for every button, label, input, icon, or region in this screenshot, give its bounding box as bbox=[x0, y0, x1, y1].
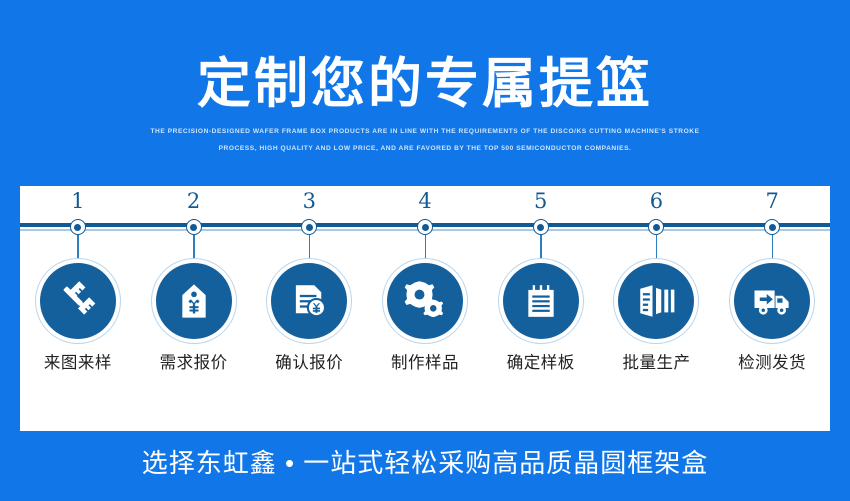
step-label: 来图来样 bbox=[20, 352, 136, 374]
step-icon-ring bbox=[729, 258, 815, 344]
timeline-stem bbox=[77, 235, 79, 260]
process-step-2[interactable]: 2 bbox=[136, 186, 252, 431]
timeline-node bbox=[533, 219, 549, 235]
timeline-node bbox=[301, 219, 317, 235]
step-icon-ring bbox=[498, 258, 584, 344]
pencil-ruler-icon bbox=[40, 263, 116, 339]
step-icon-ring bbox=[266, 258, 352, 344]
timeline-node bbox=[70, 219, 86, 235]
process-step-3[interactable]: 3 bbox=[251, 186, 367, 431]
timeline-node bbox=[764, 219, 780, 235]
gears-icon bbox=[387, 263, 463, 339]
step-label: 检测发货 bbox=[714, 352, 830, 374]
step-number: 5 bbox=[483, 189, 599, 213]
delivery-truck-icon bbox=[734, 263, 810, 339]
timeline-stem bbox=[193, 235, 195, 260]
process-panel: 1 bbox=[20, 186, 830, 431]
step-number: 3 bbox=[251, 189, 367, 213]
step-label: 确认报价 bbox=[251, 352, 367, 374]
step-number: 1 bbox=[20, 189, 136, 213]
timeline-stem bbox=[772, 235, 774, 260]
production-bars-icon bbox=[618, 263, 694, 339]
step-icon-ring bbox=[151, 258, 237, 344]
step-label: 需求报价 bbox=[136, 352, 252, 374]
process-step-1[interactable]: 1 bbox=[20, 186, 136, 431]
timeline-node bbox=[648, 219, 664, 235]
step-number: 7 bbox=[714, 189, 830, 213]
footer-tagline: 选择东虹鑫 • 一站式轻松采购高品质晶圆框架盒 bbox=[0, 447, 850, 479]
process-step-6[interactable]: 6 bbox=[599, 186, 715, 431]
process-step-4[interactable]: 4 bbox=[367, 186, 483, 431]
step-label: 批量生产 bbox=[599, 352, 715, 374]
process-step-list: 1 bbox=[20, 186, 830, 431]
timeline-stem bbox=[540, 235, 542, 260]
banner-header: 定制您的专属提篮 THE PRECISION-DESIGNED WAFER FR… bbox=[0, 0, 850, 170]
timeline-stem bbox=[656, 235, 658, 260]
step-icon-ring bbox=[613, 258, 699, 344]
timeline-node bbox=[186, 219, 202, 235]
timeline-stem bbox=[309, 235, 311, 260]
price-tag-yuan-icon bbox=[156, 263, 232, 339]
step-icon-ring bbox=[35, 258, 121, 344]
timeline-node bbox=[417, 219, 433, 235]
subtitle-text: THE PRECISION-DESIGNED WAFER FRAME BOX P… bbox=[140, 123, 710, 157]
promo-banner: 定制您的专属提篮 THE PRECISION-DESIGNED WAFER FR… bbox=[0, 0, 850, 501]
step-icon-ring bbox=[382, 258, 468, 344]
step-number: 6 bbox=[599, 189, 715, 213]
timeline-stem bbox=[425, 235, 427, 260]
document-yuan-coin-icon bbox=[271, 263, 347, 339]
process-step-5[interactable]: 5 bbox=[483, 186, 599, 431]
step-label: 制作样品 bbox=[367, 352, 483, 374]
notepad-icon bbox=[503, 263, 579, 339]
step-number: 2 bbox=[136, 189, 252, 213]
page-title: 定制您的专属提篮 bbox=[0, 54, 850, 112]
step-label: 确定样板 bbox=[483, 352, 599, 374]
process-step-7[interactable]: 7 bbox=[714, 186, 830, 431]
step-number: 4 bbox=[367, 189, 483, 213]
